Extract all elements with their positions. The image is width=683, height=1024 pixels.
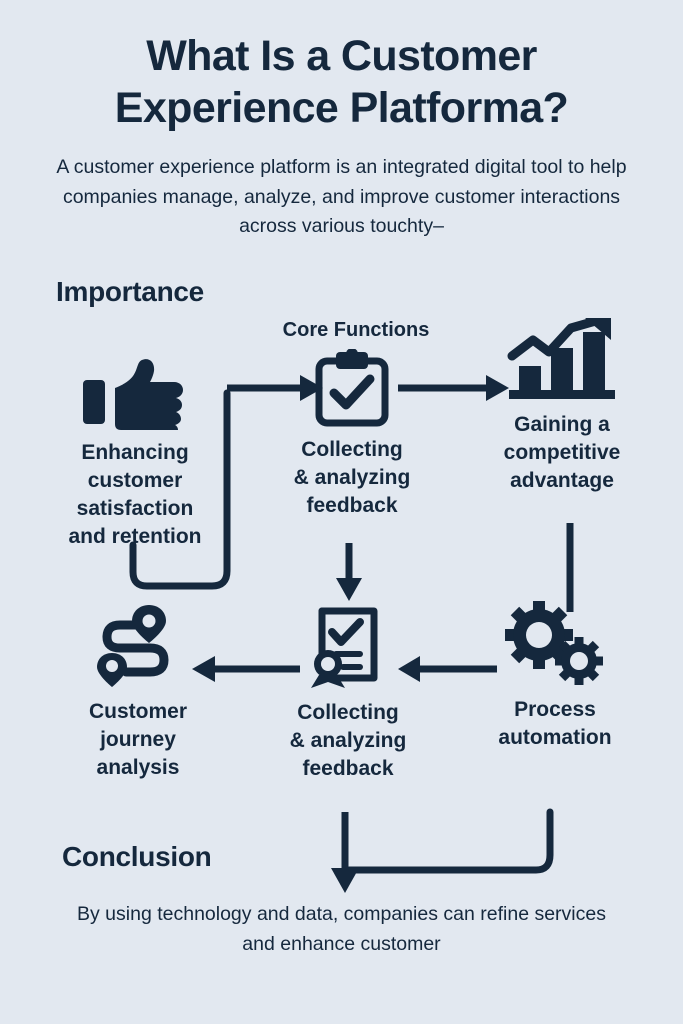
clipboard-check-icon [314, 349, 390, 427]
infographic-poster: What Is a Customer Experience Platforma?… [0, 0, 683, 1024]
certificate-check-icon [306, 606, 390, 690]
growth-chart-icon [507, 318, 617, 402]
node-label: Collecting & analyzing feedback [262, 436, 442, 520]
icon-container [48, 607, 228, 689]
page-title: What Is a Customer Experience Platforma? [0, 30, 683, 135]
node-customer-journey: Customer journey analysis [48, 607, 228, 782]
icon-container [258, 608, 438, 690]
icon-container [262, 345, 442, 427]
node-competitive-advantage: Gaining a competitive advantage [472, 320, 652, 495]
section-heading-core-functions: Core Functions [253, 319, 459, 342]
node-collecting-feedback-bottom: Collecting & analyzing feedback [258, 608, 438, 783]
node-label: Collecting & analyzing feedback [258, 699, 438, 783]
icon-container [472, 320, 652, 402]
connector-gears-to-conclusion [349, 812, 550, 870]
icon-container [465, 605, 645, 687]
section-heading-conclusion: Conclusion [62, 841, 211, 873]
node-process-automation: Process automation [465, 605, 645, 752]
node-collecting-feedback-top: Collecting & analyzing feedback [262, 345, 442, 520]
arrowhead-to-certificate [336, 578, 362, 601]
icon-container [45, 348, 225, 430]
node-label: Process automation [465, 696, 645, 752]
conclusion-body-text: By using technology and data, companies … [0, 900, 683, 959]
arrowhead-to-conclusion [331, 868, 359, 893]
page-subtitle: A customer experience platform is an int… [0, 153, 683, 242]
node-enhancing-satisfaction: Enhancing customer satisfaction and rete… [45, 348, 225, 551]
thumbs-up-icon [81, 358, 189, 430]
header: What Is a Customer Experience Platforma?… [0, 30, 683, 242]
gears-icon [503, 601, 607, 687]
section-heading-importance: Importance [56, 276, 204, 308]
journey-path-icon [92, 603, 184, 689]
node-label: Gaining a competitive advantage [472, 411, 652, 495]
node-label: Customer journey analysis [48, 698, 228, 782]
node-label: Enhancing customer satisfaction and rete… [45, 439, 225, 551]
